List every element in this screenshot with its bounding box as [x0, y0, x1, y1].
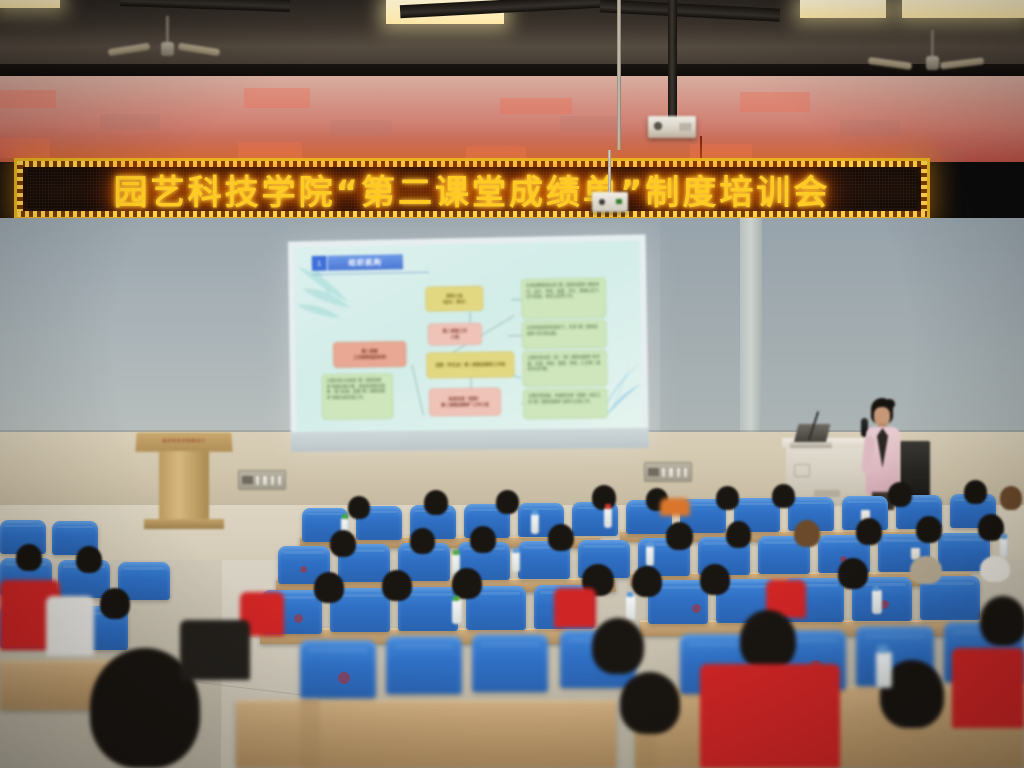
water-bottle — [872, 590, 882, 614]
led-border-right — [921, 161, 927, 217]
audience-head — [410, 528, 435, 554]
lectern-column — [159, 451, 209, 521]
diagram-note-1: 负责统筹管理全院“第二课堂成绩单”课程项目、运行、考核、监管、评价、数据认定与证… — [521, 277, 606, 319]
audience-head-braids — [740, 610, 796, 670]
audience-head — [382, 570, 412, 601]
diagram-note-2: 在领导组领导的指导下，负责“第二课堂成绩单”的日常运营。 — [522, 320, 607, 349]
water-bottle — [626, 596, 636, 620]
switch-icon[interactable] — [683, 467, 688, 478]
projector-vent — [680, 123, 692, 131]
audience-head — [794, 520, 820, 547]
ceiling-light-panel — [902, 0, 1024, 18]
audience-head — [470, 526, 496, 553]
switch-icon[interactable] — [668, 467, 673, 478]
audience-body-red-shirt — [952, 648, 1024, 728]
lectern-top: 园艺科技学院报告厅 — [135, 433, 232, 452]
diagram-node-workgroup: 第二课堂工作 小组 — [428, 323, 482, 346]
audience-head — [592, 618, 644, 674]
desk-row-front — [236, 700, 616, 768]
auditorium-seat[interactable] — [300, 640, 376, 698]
laptop-keyboard — [790, 442, 832, 448]
audience-head — [620, 672, 680, 734]
water-bottle — [646, 546, 654, 566]
diagram-node-leadership: 领导小组 （组长：院长） — [425, 286, 483, 312]
audience-head — [314, 572, 344, 603]
audience-head-with-cap — [910, 556, 942, 584]
switch-icon[interactable] — [676, 467, 681, 478]
podium-panel — [794, 464, 810, 477]
audience-head — [548, 524, 574, 551]
audience-body — [46, 596, 94, 656]
audience-body — [554, 588, 596, 628]
ceiling-fan — [132, 16, 202, 62]
audience-body — [660, 498, 690, 516]
audience-head — [330, 530, 356, 557]
audience-body-red-shirt — [700, 664, 840, 768]
switch-icon[interactable] — [255, 475, 260, 486]
audience-head — [964, 480, 987, 504]
upper-back-wall — [0, 76, 1024, 162]
audience-body — [180, 620, 250, 680]
led-banner: 园艺科技学院“第二课堂成绩单”制度培训会 — [14, 158, 930, 220]
desk-side-panel — [300, 700, 320, 768]
suspension-pole — [617, 0, 621, 150]
audience-head — [916, 516, 942, 543]
audience-head — [980, 596, 1024, 646]
slide-section-title: 组织机构 — [328, 254, 404, 270]
audience-head — [76, 546, 102, 573]
auditorium-seat[interactable] — [472, 634, 548, 692]
switch-icon[interactable] — [262, 475, 267, 486]
audience-head — [838, 558, 868, 589]
diagram-node-branch: 各团支部（班级） 第二课堂成绩单”工作小组 — [429, 388, 501, 417]
diagram-note-4: 主要负责班级、年级团支部（班级）成员之间“第二课堂成绩单”运转与记录工作。 — [523, 388, 608, 419]
presentation-slide: 1 组织机构 第二课堂 工作领导组织机构 领导小组 （组长：院长） 第二课堂工作… — [294, 241, 643, 433]
ceiling-beam — [120, 0, 290, 12]
slide-header: 1 组织机构 — [312, 254, 403, 271]
audience-head — [700, 564, 730, 595]
projector-rod-secondary — [608, 150, 611, 194]
secondary-projector — [592, 192, 628, 212]
seat-logo — [692, 604, 701, 613]
slide-section-number: 1 — [312, 256, 327, 271]
seat-logo — [338, 672, 350, 684]
projector-cable — [700, 136, 702, 158]
projector-lens-icon — [654, 122, 662, 130]
front-wall-upper-right — [660, 218, 1024, 443]
lectern-base — [144, 519, 225, 529]
ceiling-light-panel — [0, 0, 60, 8]
diagram-note-3: 主要负责本院（系）“第二课堂成绩单”的开展、实施、审核、管理、考核、汇总等二课堂… — [522, 350, 607, 387]
panel-label — [648, 468, 659, 476]
audience-head — [856, 518, 882, 545]
audience-head — [452, 568, 482, 599]
audience-head — [888, 482, 912, 507]
water-bottle — [1000, 538, 1008, 558]
wall-control-panel-left[interactable] — [238, 470, 286, 490]
audience-head — [632, 566, 662, 597]
projector-indicator-light — [616, 199, 622, 204]
water-bottle — [512, 552, 520, 572]
audience-head — [716, 486, 739, 510]
audience-head — [592, 485, 616, 510]
projector-mount-pole — [668, 0, 677, 118]
led-display-area: 园艺科技学院“第二课堂成绩单”制度培训会 — [27, 169, 917, 209]
seat-logo — [294, 614, 303, 623]
projector-lens-icon — [599, 199, 605, 205]
audience-head — [726, 521, 751, 548]
audience-head — [772, 484, 795, 508]
panel-label — [242, 476, 253, 484]
water-bottle — [876, 652, 892, 688]
wooden-lectern: 园艺科技学院报告厅 — [136, 432, 232, 532]
audience-head — [16, 544, 42, 571]
screen-bottom-bar — [291, 428, 649, 452]
ceiling-projector — [648, 116, 696, 138]
ceiling-beam — [600, 0, 780, 22]
audience-head — [666, 522, 693, 550]
switch-icon[interactable] — [270, 475, 275, 486]
water-bottle — [531, 514, 539, 534]
water-bottle — [604, 508, 612, 528]
diagram-edge — [412, 365, 425, 416]
auditorium-seat[interactable] — [386, 636, 462, 694]
diagram-note-5: 主要负责讨论制定“第二课堂成绩单”制度实施方案、具体改革相关政策、部门协调，监督… — [321, 373, 393, 420]
wall-control-panel-right[interactable] — [644, 462, 692, 482]
ceiling-fan — [896, 30, 968, 76]
slide-header-rule — [312, 272, 429, 275]
audience-head — [496, 490, 519, 514]
diagram-node-youth-league: 团委（学生会）第二课堂成绩单工作组 — [426, 351, 514, 378]
projection-screen: 1 组织机构 第二课堂 工作领导组织机构 领导小组 （组长：院长） 第二课堂工作… — [288, 234, 649, 452]
diagram-root-node: 第二课堂 工作领导组织机构 — [333, 341, 407, 368]
lectern-engraved-text: 园艺科技学院报告厅 — [162, 438, 205, 444]
audience-head — [424, 490, 448, 515]
podium-drawer — [814, 490, 840, 497]
seat-logo — [300, 566, 307, 573]
switch-icon[interactable] — [277, 475, 282, 486]
ceiling-light-panel — [800, 0, 886, 18]
led-banner-text: 园艺科技学院“第二课堂成绩单”制度培训会 — [114, 165, 831, 214]
switch-icon[interactable] — [661, 467, 666, 478]
water-bottle — [452, 600, 462, 624]
audience-head — [100, 588, 130, 619]
audience-head — [348, 496, 370, 519]
audience-head-with-cap — [980, 556, 1010, 582]
lecture-hall-photo: 园艺科技学院“第二课堂成绩单”制度培训会 — [0, 0, 1024, 768]
led-border-left — [17, 161, 23, 217]
audience-head — [1000, 486, 1022, 510]
